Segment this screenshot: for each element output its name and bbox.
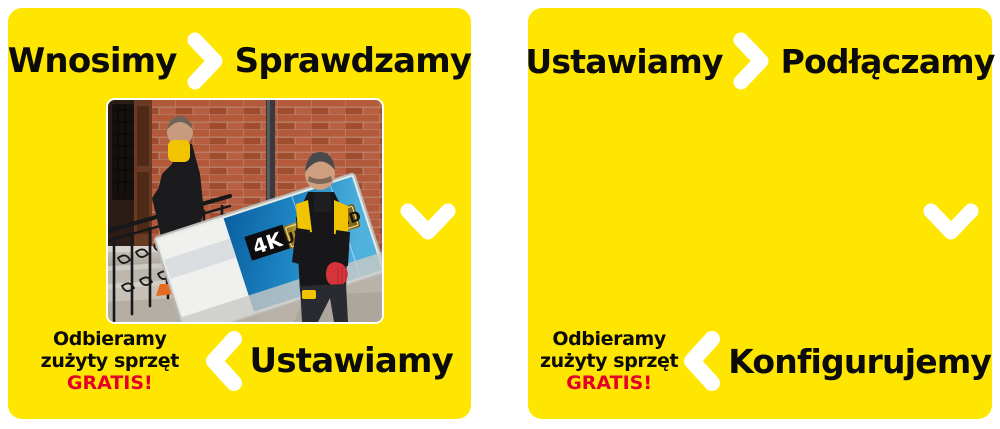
recycling-line-1: Odbieramy [540, 328, 678, 350]
step-label-ustawiamy-top: Ustawiamy [525, 45, 722, 78]
top-step-row-right: Ustawiamy Podłączamy [528, 30, 992, 92]
recycling-line-2: zużyty sprzęt [540, 350, 678, 372]
chevron-down-icon [922, 199, 980, 245]
service-step-panel-right: Ustawiamy Podłączamy Technician in a yel… [528, 8, 992, 419]
step-label-wnosimy: Wnosimy [8, 44, 177, 78]
recycling-blurb-left: Odbieramy zużyty sprzęt GRATIS! [41, 328, 179, 394]
step-label-podlaczamy: Podłączamy [781, 45, 995, 78]
recycling-blurb-right: Odbieramy zużyty sprzęt GRATIS! [540, 328, 678, 394]
chevron-left-icon [200, 328, 250, 394]
recycling-line-3-gratis: GRATIS! [540, 372, 678, 394]
bottom-step-row-left: Odbieramy zużyty sprzęt GRATIS! Ustawiam… [8, 315, 471, 407]
chevron-down-icon [399, 199, 457, 245]
step-label-ustawiamy: Ustawiamy [250, 344, 453, 378]
step-label-sprawdzamy: Sprawdzamy [235, 44, 472, 78]
promo-banner: Wnosimy Sprawdzamy Two technicians in bl… [0, 0, 1000, 429]
top-step-row-left: Wnosimy Sprawdzamy [8, 30, 471, 92]
bottom-step-row-right: Odbieramy zużyty sprzęt GRATIS! Konfigur… [528, 315, 992, 407]
chevron-right-icon [183, 30, 229, 92]
photo-carrying-tv-up-stairs: Two technicians in black and yellow unif… [108, 100, 382, 322]
service-step-panel-left: Wnosimy Sprawdzamy Two technicians in bl… [8, 8, 471, 419]
step-label-konfigurujemy: Konfigurujemy [728, 345, 991, 378]
recycling-line-1: Odbieramy [41, 328, 179, 350]
recycling-line-2: zużyty sprzęt [41, 350, 179, 372]
recycling-line-3-gratis: GRATIS! [41, 372, 179, 394]
chevron-left-icon [678, 328, 728, 394]
chevron-right-icon [729, 30, 775, 92]
